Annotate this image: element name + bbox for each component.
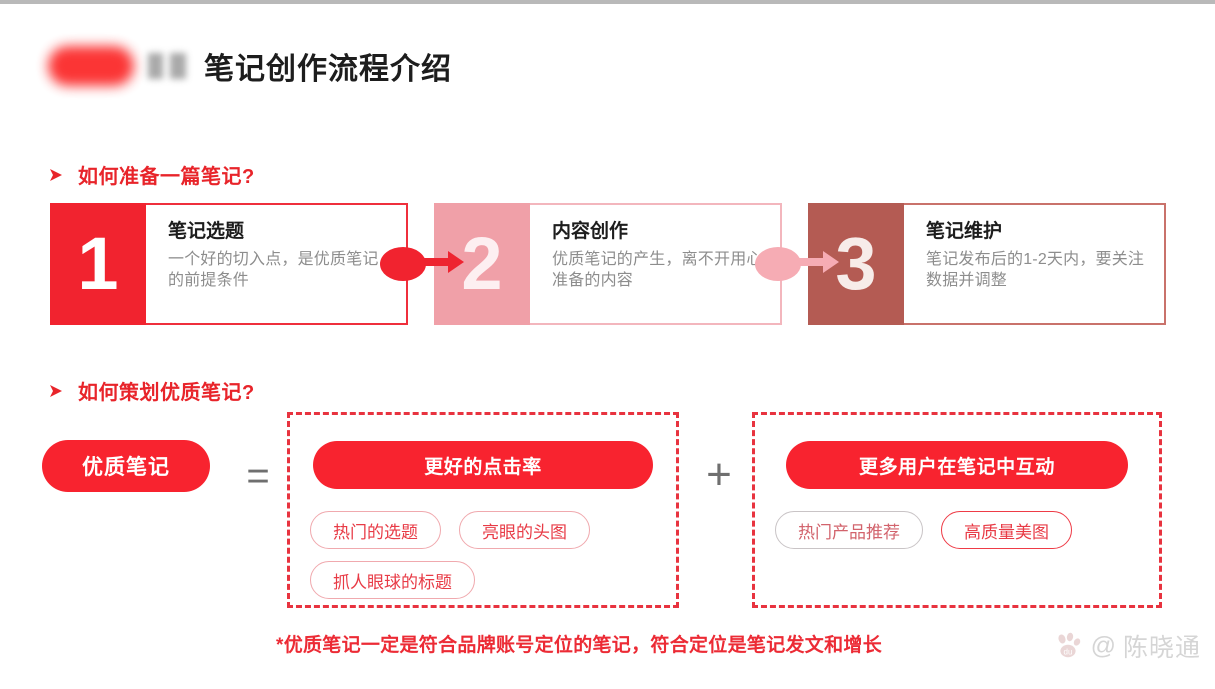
baidu-paw-icon: du xyxy=(1054,631,1084,661)
tag-item: 热门的选题 xyxy=(310,511,441,549)
quality-note-badge: 优质笔记 xyxy=(42,440,210,492)
flow-step-3: 3 笔记维护 笔记发布后的1-2天内，要关注数据并调整 xyxy=(808,203,1166,325)
group-title-badge: 更多用户在笔记中互动 xyxy=(786,441,1128,489)
top-edge-band xyxy=(0,0,1215,4)
arrow-bullet-icon xyxy=(48,167,64,183)
slide-canvas: 笔记创作流程介绍 如何准备一篇笔记? 1 笔记选题 一个好的切入点，是优质笔记的… xyxy=(0,0,1215,689)
svg-text:du: du xyxy=(1063,648,1072,657)
plus-symbol: + xyxy=(697,452,741,498)
slide-header: 笔记创作流程介绍 xyxy=(48,38,452,94)
brand-logo-icon xyxy=(48,46,134,86)
section-heading-label: 如何策划优质笔记? xyxy=(78,376,255,405)
brand-wordmark-icon xyxy=(148,53,186,79)
step-title: 内容创作 xyxy=(552,221,766,244)
step-number: 1 xyxy=(50,203,146,325)
footnote-text: *优质笔记一定是符合品牌账号定位的笔记，符合定位是笔记发文和增长 xyxy=(276,630,882,657)
arrow-bullet-icon xyxy=(48,383,64,399)
tag-item: 高质量美图 xyxy=(941,511,1072,549)
group-tag-list: 热门产品推荐 高质量美图 xyxy=(775,511,1139,549)
arrow-right-icon xyxy=(799,249,839,280)
section-heading-prepare: 如何准备一篇笔记? xyxy=(48,160,255,189)
flow-connector-1 xyxy=(380,245,464,283)
page-title: 笔记创作流程介绍 xyxy=(204,44,452,88)
formula-group-interaction: 更多用户在笔记中互动 热门产品推荐 高质量美图 xyxy=(752,412,1162,608)
step-title: 笔记维护 xyxy=(926,221,1150,244)
watermark-name: 陈晓通 xyxy=(1123,628,1201,664)
step-description: 笔记发布后的1-2天内，要关注数据并调整 xyxy=(926,249,1150,291)
section-heading-label: 如何准备一篇笔记? xyxy=(78,160,255,189)
step-flow: 1 笔记选题 一个好的切入点，是优质笔记的前提条件 2 内容创作 优质笔记的产生… xyxy=(50,203,1165,325)
step-body: 笔记选题 一个好的切入点，是优质笔记的前提条件 xyxy=(146,203,408,325)
flow-step-2: 2 内容创作 优质笔记的产生，离不开用心准备的内容 xyxy=(434,203,782,325)
section-heading-plan: 如何策划优质笔记? xyxy=(48,376,255,405)
step-body: 笔记维护 笔记发布后的1-2天内，要关注数据并调整 xyxy=(904,203,1166,325)
watermark: du @ 陈晓通 xyxy=(1054,628,1201,664)
step-description: 一个好的切入点，是优质笔记的前提条件 xyxy=(168,249,392,291)
connector-dot-icon xyxy=(380,247,426,281)
quality-formula: 优质笔记 = 更好的点击率 热门的选题 亮眼的头图 抓人眼球的标题 + 更多用户… xyxy=(42,412,1162,620)
step-body: 内容创作 优质笔记的产生，离不开用心准备的内容 xyxy=(530,203,782,325)
formula-group-clickrate: 更好的点击率 热门的选题 亮眼的头图 抓人眼球的标题 xyxy=(287,412,679,608)
step-description: 优质笔记的产生，离不开用心准备的内容 xyxy=(552,249,766,291)
arrow-right-icon xyxy=(424,249,464,280)
watermark-at-symbol: @ xyxy=(1091,632,1116,661)
connector-dot-icon xyxy=(755,247,801,281)
step-title: 笔记选题 xyxy=(168,221,392,244)
equals-symbol: = xyxy=(235,454,281,498)
tag-item: 热门产品推荐 xyxy=(775,511,923,549)
group-tag-list: 热门的选题 亮眼的头图 抓人眼球的标题 xyxy=(310,511,656,599)
tag-item: 亮眼的头图 xyxy=(459,511,590,549)
tag-item: 抓人眼球的标题 xyxy=(310,561,475,599)
group-title-badge: 更好的点击率 xyxy=(313,441,653,489)
flow-connector-2 xyxy=(755,245,839,283)
flow-step-1: 1 笔记选题 一个好的切入点，是优质笔记的前提条件 xyxy=(50,203,408,325)
